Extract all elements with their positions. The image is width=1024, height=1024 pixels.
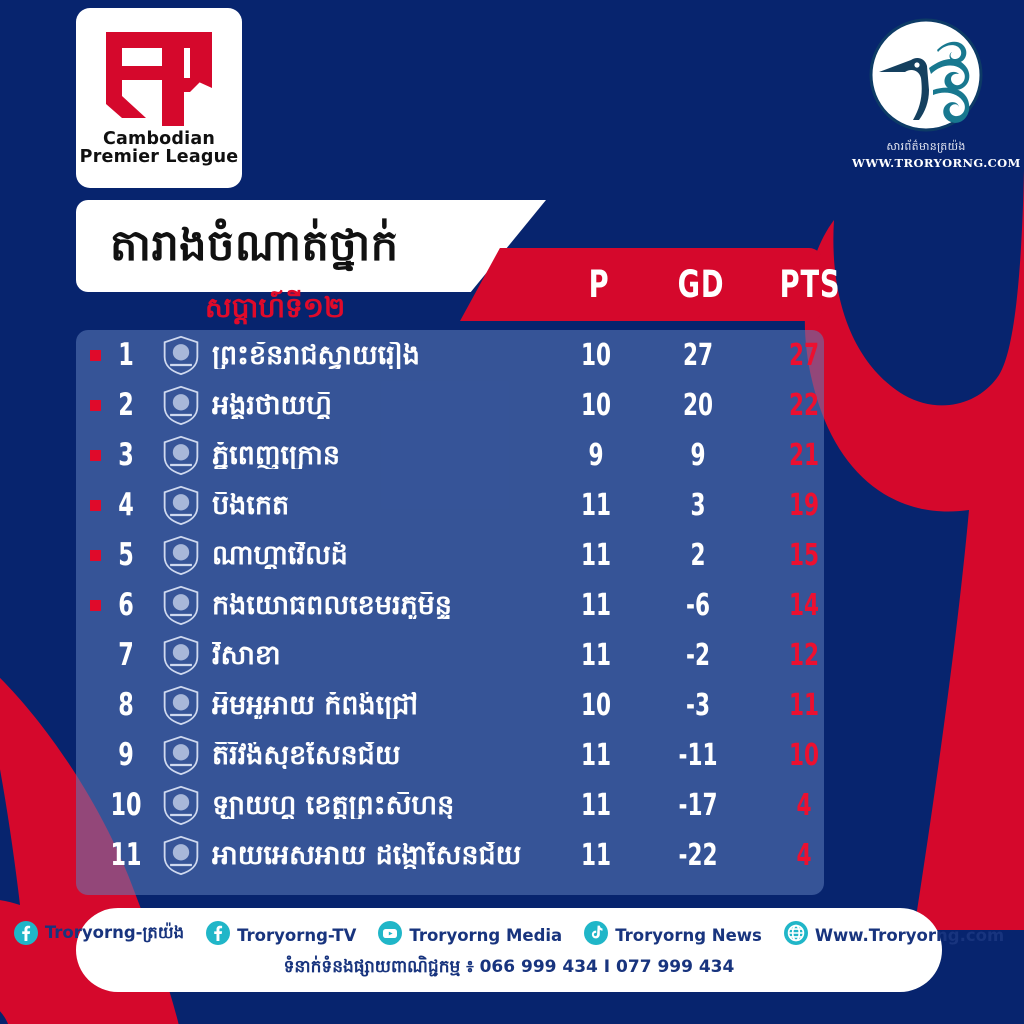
- contact-line: ទំនាក់ទំនងផ្សាយពាណិជ្ជកម្ម ៖ 066 999 434…: [284, 956, 735, 981]
- points-value: 4: [764, 788, 844, 823]
- troryorng-khmer-label: សារព័ត៌មានត្រយ៉ង: [852, 140, 1000, 156]
- cpl-logo-card: Cambodian Premier League: [76, 8, 242, 188]
- team-crest: [158, 632, 204, 678]
- youtube-icon[interactable]: [378, 921, 402, 949]
- played-value: 10: [556, 338, 636, 373]
- facebook-icon[interactable]: [206, 921, 230, 949]
- table-row: 11 អាយអេសអាយ ដង្កោសែនជ័យ11-224: [76, 830, 824, 880]
- table-row: 3 ភ្នំពេញក្រោន9921: [76, 430, 824, 480]
- tiri-vong-crest-icon: [161, 735, 201, 775]
- globe-icon[interactable]: [784, 921, 808, 949]
- team-crest: [158, 582, 204, 628]
- social-link[interactable]: Troryorng-TV: [206, 921, 356, 949]
- table-row: 4 បឹងកេត11319: [76, 480, 824, 530]
- rank-number: 4: [104, 487, 149, 523]
- table-row: 10 ឡាយហ្គ ខេត្តព្រះសីហនុ11-174: [76, 780, 824, 830]
- column-header-pts: PTS: [769, 248, 851, 321]
- table-row: 7 វិសាខា11-212: [76, 630, 824, 680]
- poster-canvas: Cambodian Premier League សារព័ត៌មានត្រយ៉…: [0, 0, 1024, 1024]
- points-value: 4: [764, 838, 844, 873]
- team-crest: [158, 482, 204, 528]
- life-crest-icon: [161, 785, 201, 825]
- boeung-ket-crest-icon: [161, 485, 201, 525]
- team-crest: [158, 732, 204, 778]
- played-value: 9: [556, 438, 636, 473]
- points-value: 15: [764, 538, 844, 573]
- troryorng-bird-icon: [867, 16, 985, 134]
- points-value: 19: [764, 488, 844, 523]
- rank-number: 7: [104, 637, 149, 673]
- points-value: 22: [764, 388, 844, 423]
- emoi-crest-icon: [161, 685, 201, 725]
- goal-diff-value: 20: [658, 388, 738, 423]
- team-name: ណាហ្គាវើលដ៍: [212, 542, 542, 569]
- played-value: 11: [556, 538, 636, 573]
- rank-number: 5: [104, 537, 149, 573]
- points-value: 27: [764, 338, 844, 373]
- goal-diff-value: -3: [658, 688, 738, 723]
- social-label: Troryorng News: [615, 926, 762, 945]
- points-value: 11: [764, 688, 844, 723]
- goal-diff-value: 2: [658, 538, 738, 573]
- team-crest: [158, 832, 204, 878]
- rank-number: 2: [104, 387, 149, 423]
- rank-number: 10: [104, 787, 149, 823]
- social-label: Www.Troryorng.com: [815, 926, 1004, 945]
- cpl-word-line1: Cambodian: [80, 130, 239, 148]
- tiger-crest-icon: [161, 385, 201, 425]
- team-crest: [158, 682, 204, 728]
- table-row: 9 តិរីវង់សុខសែនជ័យ11-1110: [76, 730, 824, 780]
- social-links: Troryorng-ត្រយ៉ងTroryorng-TVTroryorng Me…: [14, 921, 1004, 949]
- team-name: វិសាខា: [212, 642, 542, 669]
- social-link[interactable]: Troryorng-ត្រយ៉ង: [14, 921, 184, 949]
- team-crest: [158, 432, 204, 478]
- social-link[interactable]: Www.Troryorng.com: [784, 921, 1004, 949]
- rank-number: 9: [104, 737, 149, 773]
- played-value: 11: [556, 838, 636, 873]
- team-crest: [158, 532, 204, 578]
- column-headers: P GD PTS: [460, 248, 823, 321]
- goal-diff-value: -11: [658, 738, 738, 773]
- team-name: អង្គរថាយហ្គឺ: [212, 392, 542, 419]
- rank-number: 3: [104, 437, 149, 473]
- team-crest: [158, 332, 204, 378]
- goal-diff-value: 27: [658, 338, 738, 373]
- played-value: 11: [556, 738, 636, 773]
- goal-diff-value: 3: [658, 488, 738, 523]
- team-name: ព្រះខ័នរាជស្វាយរៀង: [212, 342, 542, 369]
- social-label: Troryorng Media: [409, 926, 562, 945]
- qualification-marker: [90, 350, 101, 361]
- team-crest: [158, 382, 204, 428]
- points-value: 14: [764, 588, 844, 623]
- social-label: Troryorng-ត្រយ៉ង: [45, 923, 184, 947]
- team-name: អឺមអូអាយ កំពង់ជ្រៅ: [212, 692, 542, 719]
- army-crest-icon: [161, 585, 201, 625]
- troryorng-url-label: WWW.TRORYORNG.COM: [852, 156, 1000, 170]
- qualification-marker: [90, 450, 101, 461]
- social-link[interactable]: Troryorng Media: [378, 921, 562, 949]
- cpl-monogram-icon: [100, 26, 218, 126]
- isi-crest-icon: [161, 835, 201, 875]
- column-header-p: P: [562, 248, 636, 321]
- crown-crest-icon: [161, 435, 201, 475]
- social-link[interactable]: Troryorng News: [584, 921, 762, 949]
- social-label: Troryorng-TV: [237, 926, 356, 945]
- team-name: កងយោធពលខេមរភូមិន្ទ: [212, 592, 542, 619]
- qualification-marker: [90, 400, 101, 411]
- team-crest: [158, 782, 204, 828]
- cpl-wordmark: Cambodian Premier League: [80, 130, 239, 167]
- qualification-marker: [90, 500, 101, 511]
- team-name: ឡាយហ្គ ខេត្តព្រះសីហនុ: [212, 792, 542, 819]
- played-value: 11: [556, 488, 636, 523]
- visakha-crest-icon: [161, 635, 201, 675]
- points-value: 10: [764, 738, 844, 773]
- column-header-gd: GD: [664, 248, 738, 321]
- goal-diff-value: -6: [658, 588, 738, 623]
- table-row: 5 ណាហ្គាវើលដ៍11215: [76, 530, 824, 580]
- table-row: 6 កងយោធពលខេមរភូមិន្ទ11-614: [76, 580, 824, 630]
- played-value: 11: [556, 588, 636, 623]
- team-name: អាយអេសអាយ ដង្កោសែនជ័យ: [212, 842, 542, 869]
- shield-crest-icon: [161, 335, 201, 375]
- standings-table: 1 ព្រះខ័នរាជស្វាយរៀង1027272 អង្គរថាយហ្គឺ…: [76, 330, 824, 895]
- team-name: ភ្នំពេញក្រោន: [212, 442, 542, 469]
- team-name: បឹងកេត: [212, 492, 542, 519]
- goal-diff-value: 9: [658, 438, 738, 473]
- points-value: 21: [764, 438, 844, 473]
- cpl-word-line2: Premier League: [80, 148, 239, 166]
- page-title: តារាងចំណាត់ថ្នាក់: [110, 225, 399, 268]
- naga-world-crest-icon: [161, 535, 201, 575]
- team-name: តិរីវង់សុខសែនជ័យ: [212, 742, 542, 769]
- goal-diff-value: -2: [658, 638, 738, 673]
- week-subtitle: សប្តាហ៍ទី១២: [205, 290, 345, 331]
- played-value: 11: [556, 638, 636, 673]
- qualification-marker: [90, 550, 101, 561]
- table-row: 1 ព្រះខ័នរាជស្វាយរៀង102727: [76, 330, 824, 380]
- goal-diff-value: -22: [658, 838, 738, 873]
- played-value: 10: [556, 688, 636, 723]
- table-row: 8 អឺមអូអាយ កំពង់ជ្រៅ10-311: [76, 680, 824, 730]
- rank-number: 11: [104, 837, 149, 873]
- rank-number: 8: [104, 687, 149, 723]
- footer-bar: Troryorng-ត្រយ៉ងTroryorng-TVTroryorng Me…: [76, 908, 942, 992]
- played-value: 10: [556, 388, 636, 423]
- troryorng-logo: សារព័ត៌មានត្រយ៉ង WWW.TRORYORNG.COM: [852, 16, 1000, 170]
- qualification-marker: [90, 600, 101, 611]
- goal-diff-value: -17: [658, 788, 738, 823]
- rank-number: 1: [104, 337, 149, 373]
- rank-number: 6: [104, 587, 149, 623]
- facebook-icon[interactable]: [14, 921, 38, 949]
- points-value: 12: [764, 638, 844, 673]
- tiktok-icon[interactable]: [584, 921, 608, 949]
- table-row: 2 អង្គរថាយហ្គឺ102022: [76, 380, 824, 430]
- played-value: 11: [556, 788, 636, 823]
